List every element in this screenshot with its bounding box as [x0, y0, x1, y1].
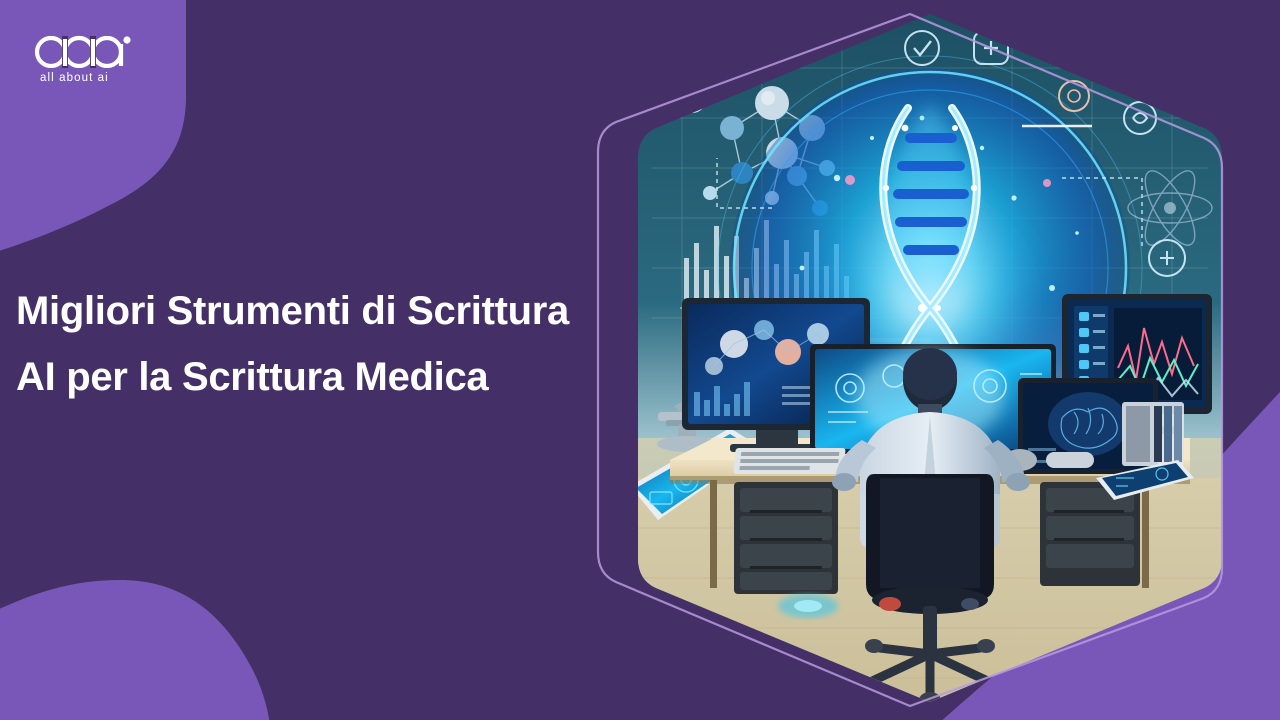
brand-tagline: all about ai	[40, 72, 109, 84]
page-title-line-1: Migliori Strumenti di Scrittura	[16, 278, 656, 344]
brain-graphic	[1048, 392, 1128, 456]
brand-logo[interactable]: all about ai	[34, 34, 194, 94]
aaai-logo-icon	[34, 34, 146, 68]
keyboard	[733, 448, 846, 474]
hero-illustration	[622, 8, 1238, 708]
mouse-pad	[1046, 452, 1094, 468]
floor-tech-glow	[778, 594, 838, 618]
drawer-unit-right	[1040, 482, 1140, 586]
drawer-unit-left	[734, 482, 838, 594]
banner-canvas: all about ai Migliori Strumenti di Scrit…	[0, 0, 1280, 720]
document-holder	[1122, 402, 1184, 466]
page-title: Migliori Strumenti di Scrittura AI per l…	[16, 278, 656, 410]
page-title-line-2: AI per la Scrittura Medica	[16, 344, 656, 410]
